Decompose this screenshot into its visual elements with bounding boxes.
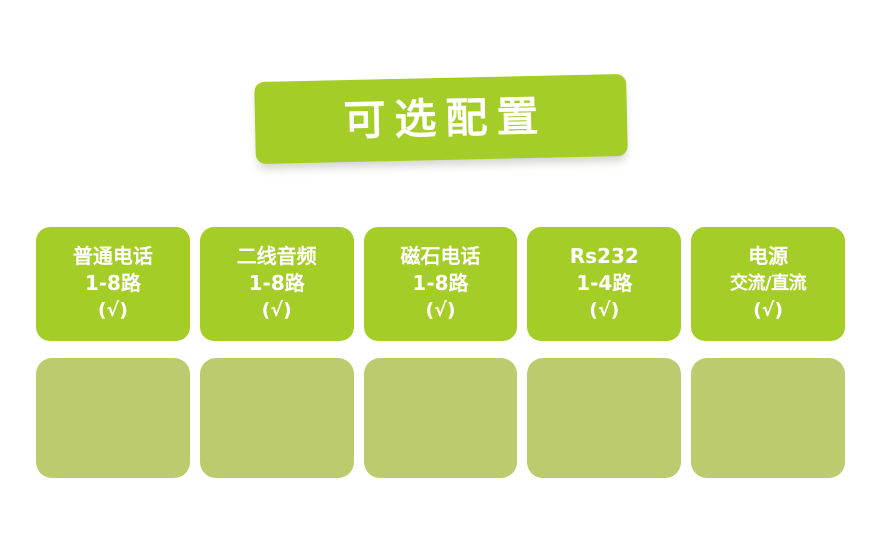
configuration-card-grid: 普通电话 1-8路 (√) 二线音频 1-8路 (√) 磁石电话 1-8路 (√… (36, 227, 845, 478)
placeholder-card-4[interactable] (527, 358, 681, 478)
config-card-range: 1-8路 (249, 270, 305, 297)
placeholder-card-3[interactable] (364, 358, 518, 478)
placeholder-card-row (36, 358, 845, 478)
placeholder-card-1[interactable] (36, 358, 190, 478)
banner-title: 可选配置 (334, 96, 548, 143)
config-card-check: (√) (262, 297, 292, 324)
placeholder-card-5[interactable] (691, 358, 845, 478)
config-card-check: (√) (98, 297, 128, 324)
config-card-range: 交流/直流 (730, 270, 806, 297)
config-card-power-supply[interactable]: 电源 交流/直流 (√) (691, 227, 845, 341)
page-canvas: 可选配置 普通电话 1-8路 (√) 二线音频 1-8路 (√) 磁石电话 1-… (0, 0, 880, 560)
config-card-rs232[interactable]: Rs232 1-4路 (√) (527, 227, 681, 341)
config-card-check: (√) (589, 297, 619, 324)
config-card-check: (√) (753, 297, 783, 324)
config-card-check: (√) (425, 297, 455, 324)
config-card-title: 电源 (748, 243, 788, 270)
config-card-two-wire-audio[interactable]: 二线音频 1-8路 (√) (200, 227, 354, 341)
config-card-range: 1-8路 (85, 270, 141, 297)
configuration-card-row: 普通电话 1-8路 (√) 二线音频 1-8路 (√) 磁石电话 1-8路 (√… (36, 227, 845, 341)
placeholder-card-2[interactable] (200, 358, 354, 478)
config-card-range: 1-4路 (576, 270, 632, 297)
config-card-title: 普通电话 (73, 243, 153, 270)
config-card-title: 二线音频 (237, 243, 317, 270)
config-card-range: 1-8路 (412, 270, 468, 297)
banner-shape: 可选配置 (254, 74, 628, 164)
config-card-magneto-telephone[interactable]: 磁石电话 1-8路 (√) (364, 227, 518, 341)
config-card-title: Rs232 (570, 243, 639, 270)
optional-configuration-banner: 可选配置 (255, 78, 627, 170)
config-card-ordinary-telephone[interactable]: 普通电话 1-8路 (√) (36, 227, 190, 341)
config-card-title: 磁石电话 (400, 243, 480, 270)
